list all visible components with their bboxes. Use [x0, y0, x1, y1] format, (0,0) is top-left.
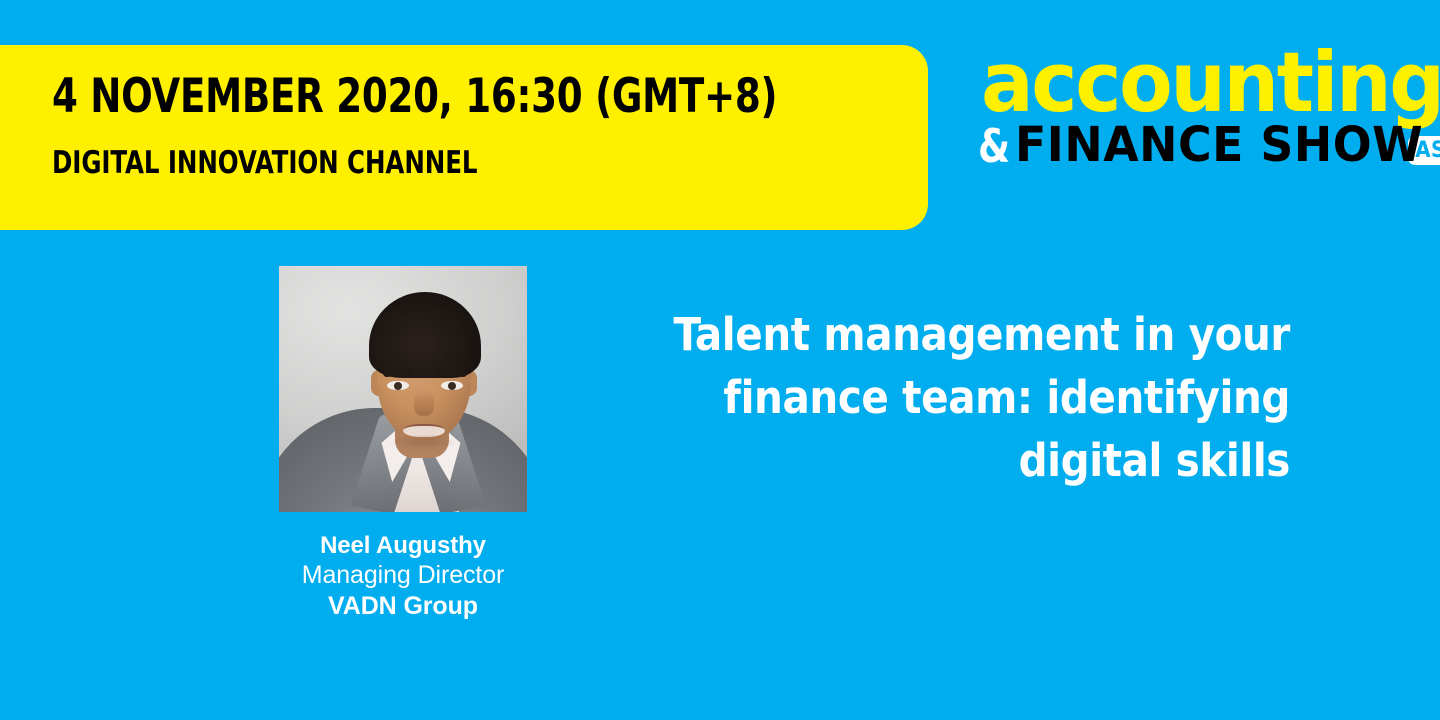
- session-datetime: 4 NOVEMBER 2020, 16:30 (GMT+8): [52, 73, 777, 120]
- speaker-company: VADN Group: [279, 591, 527, 622]
- eye-right: [441, 381, 463, 390]
- session-channel: DIGITAL INNOVATION CHANNEL: [52, 148, 477, 179]
- speaker-block: Neel Augusthy Managing Director VADN Gro…: [279, 266, 527, 621]
- nose-shape: [414, 390, 434, 416]
- speaker-photo: [279, 266, 527, 512]
- chin-shadow: [391, 434, 457, 450]
- ampersand-icon: &: [978, 125, 1009, 167]
- logo-wordmark-finance-show: FINANCE SHOW: [1015, 123, 1423, 167]
- session-title-line: Talent management in your: [620, 303, 1290, 366]
- webinar-promo-slide: 4 NOVEMBER 2020, 16:30 (GMT+8) DIGITAL I…: [0, 0, 1440, 720]
- eye-left: [387, 381, 409, 390]
- logo-second-row: & FINANCE SHOW ASIA: [978, 123, 1440, 167]
- speaker-role: Managing Director: [279, 560, 527, 591]
- speaker-name: Neel Augusthy: [279, 532, 527, 560]
- date-banner: 4 NOVEMBER 2020, 16:30 (GMT+8) DIGITAL I…: [0, 45, 928, 230]
- session-title-line: digital skills: [620, 429, 1290, 492]
- session-title: Talent management in your finance team: …: [620, 303, 1290, 492]
- event-logo: accounting & FINANCE SHOW ASIA: [978, 45, 1418, 185]
- session-title-line: finance team: identifying: [620, 366, 1290, 429]
- logo-wordmark-accounting: accounting: [981, 41, 1440, 124]
